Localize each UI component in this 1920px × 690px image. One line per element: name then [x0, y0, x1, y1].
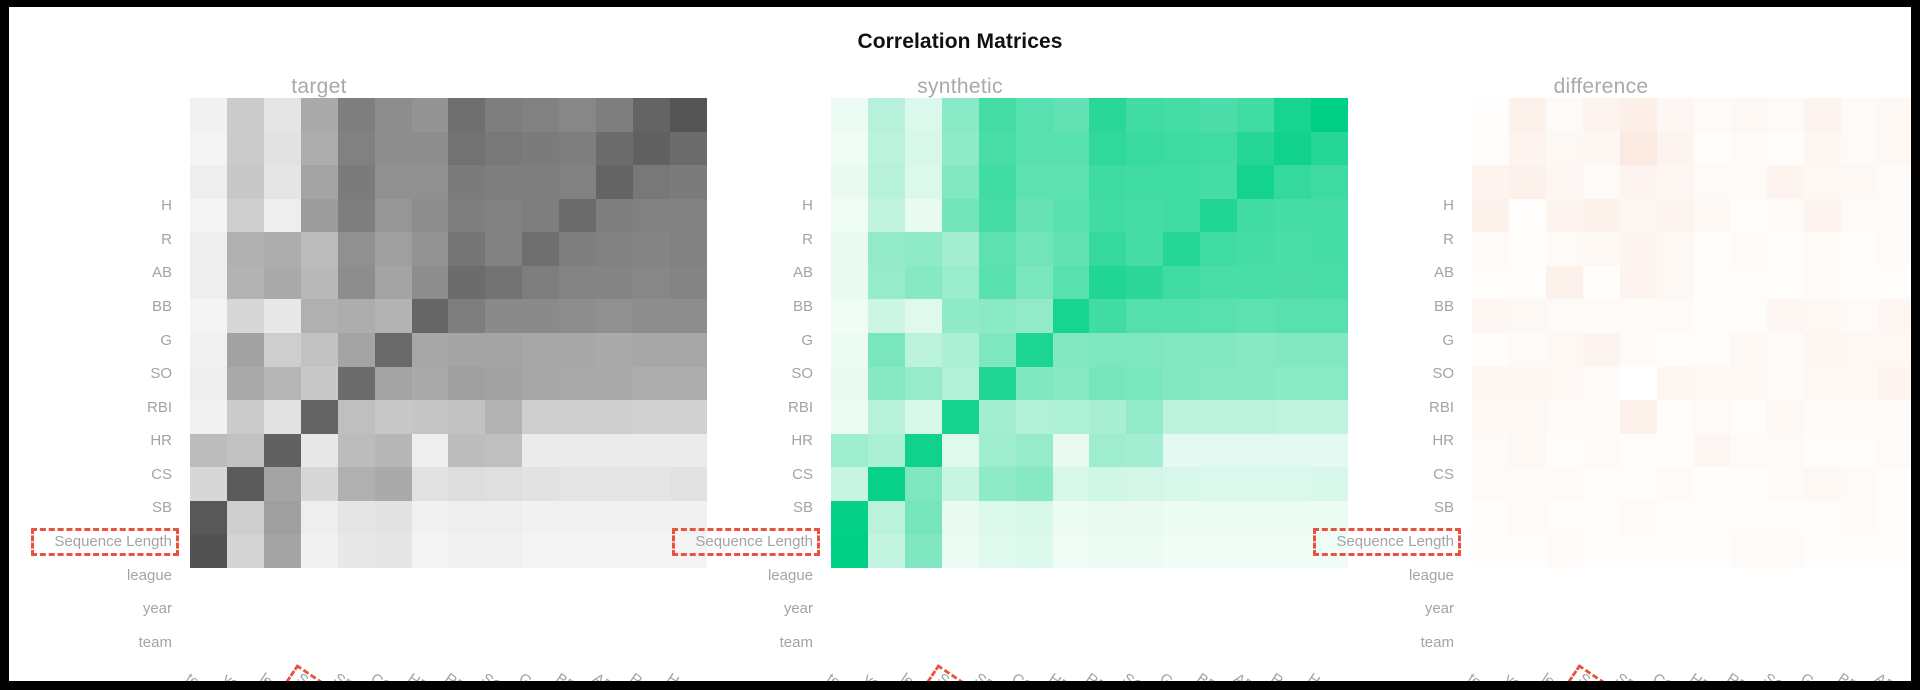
- heatmap-cell: [301, 98, 338, 132]
- tick-label-text: team: [780, 634, 813, 651]
- heatmap-cell: [1126, 333, 1163, 367]
- heatmap-cell: [831, 367, 868, 401]
- y-axis-tick-label: G: [1291, 323, 1463, 357]
- heatmap-cell: [1657, 98, 1694, 132]
- x-axis-labels-difference: teamyearleagueSequence LengthSBCSHRRBISO…: [1472, 664, 1911, 681]
- x-axis-tick-label: BB: [1193, 670, 1219, 681]
- x-axis-tick-label: BB: [1834, 670, 1860, 681]
- heatmap-cell: [559, 232, 596, 266]
- heatmap-cell: [301, 165, 338, 199]
- y-axis-tick-label: H: [650, 189, 822, 223]
- heatmap-cell: [522, 434, 559, 468]
- heatmap-cell: [485, 232, 522, 266]
- heatmap-cell: [1546, 333, 1583, 367]
- x-axis-tick-label: SB: [1613, 670, 1639, 681]
- heatmap-cell: [1730, 534, 1767, 568]
- heatmap-cell: [264, 165, 301, 199]
- heatmap-cell: [227, 132, 264, 166]
- heatmap-cell: [190, 367, 227, 401]
- heatmap-cell: [412, 501, 449, 535]
- heatmap-cell: [375, 333, 412, 367]
- y-axis-tick-label: H: [1291, 189, 1463, 223]
- heatmap-cell: [1200, 98, 1237, 132]
- heatmap-cell: [227, 333, 264, 367]
- heatmap-cell: [1841, 165, 1878, 199]
- heatmap-cell: [979, 165, 1016, 199]
- heatmap-cell: [1237, 467, 1274, 501]
- y-axis-tick-label: team: [650, 626, 822, 660]
- heatmap-cell: [1546, 199, 1583, 233]
- heatmap-cell: [1016, 367, 1053, 401]
- heatmap-cell: [338, 266, 375, 300]
- tick-label-text: CS: [792, 466, 813, 483]
- heatmap-cell: [1200, 501, 1237, 535]
- heatmap-cell: [1546, 165, 1583, 199]
- x-axis-tick-label: year: [861, 670, 895, 681]
- heatmap-cell: [1620, 132, 1657, 166]
- heatmap-cell: [868, 333, 905, 367]
- heatmap-cell: [1016, 333, 1053, 367]
- heatmap-cell: [1583, 266, 1620, 300]
- heatmap-cell: [1620, 333, 1657, 367]
- heatmap-cell: [1089, 232, 1126, 266]
- heatmap-cell: [485, 199, 522, 233]
- heatmap-cell: [1546, 534, 1583, 568]
- y-axis-tick-label: AB: [1291, 256, 1463, 290]
- y-axis-tick-label: H: [9, 189, 181, 223]
- heatmap-cell: [1620, 199, 1657, 233]
- y-axis-tick-label: SO: [650, 357, 822, 391]
- heatmap-cell: [1053, 501, 1090, 535]
- heatmap-cell: [942, 467, 979, 501]
- heatmap-cell: [190, 266, 227, 300]
- heatmap-cell: [1053, 98, 1090, 132]
- x-axis-tick-label: SO: [1119, 670, 1146, 681]
- heatmap-cell: [522, 132, 559, 166]
- heatmap-cell: [831, 98, 868, 132]
- heatmap-cell: [1657, 232, 1694, 266]
- highlight-box-y: [672, 528, 820, 556]
- heatmap-cell: [1200, 232, 1237, 266]
- heatmap-cell: [1767, 333, 1804, 367]
- y-axis-tick-label: HR: [1291, 424, 1463, 458]
- heatmap-cell: [375, 199, 412, 233]
- heatmap-cell: [868, 299, 905, 333]
- heatmap-cell: [1546, 400, 1583, 434]
- heatmap-cell: [1472, 400, 1509, 434]
- panel-synthetic: synthetic HRABBBGSORBIHRCSSBSequence Len…: [650, 7, 1270, 681]
- heatmap-cell: [1089, 467, 1126, 501]
- heatmap-cell: [301, 199, 338, 233]
- heatmap-cell: [1878, 534, 1911, 568]
- heatmap-cell: [485, 266, 522, 300]
- heatmap-cell: [868, 534, 905, 568]
- heatmap-cell: [1841, 299, 1878, 333]
- heatmap-cell: [1730, 333, 1767, 367]
- heatmap-cell: [412, 266, 449, 300]
- heatmap-cell: [1767, 534, 1804, 568]
- heatmap-target[interactable]: HRABBBGSORBIHRCSSBSequence Lengthleaguey…: [190, 98, 707, 568]
- heatmap-cell: [1200, 333, 1237, 367]
- heatmap-cell: [485, 165, 522, 199]
- heatmap-cell: [905, 400, 942, 434]
- heatmap-cell: [522, 367, 559, 401]
- heatmap-cell: [1237, 333, 1274, 367]
- heatmap-cell: [1509, 199, 1546, 233]
- heatmap-cell: [1841, 232, 1878, 266]
- heatmap-cell: [264, 367, 301, 401]
- heatmap-cell: [942, 132, 979, 166]
- heatmap-cell: [1804, 199, 1841, 233]
- tick-label-text: league: [127, 567, 172, 584]
- heatmap-cell: [301, 501, 338, 535]
- heatmap-cell: [1657, 534, 1694, 568]
- heatmap-cell: [227, 232, 264, 266]
- heatmap-cell: [596, 199, 633, 233]
- heatmap-cell: [1200, 199, 1237, 233]
- heatmap-cell: [338, 98, 375, 132]
- y-axis-tick-label: SO: [1291, 357, 1463, 391]
- heatmap-cell: [1878, 367, 1911, 401]
- x-axis-tick-label: SB: [972, 670, 998, 681]
- heatmap-cell: [1546, 299, 1583, 333]
- heatmap-cell: [1016, 98, 1053, 132]
- heatmap-cell: [1237, 98, 1274, 132]
- heatmap-cell: [1126, 266, 1163, 300]
- heatmap-cell: [1730, 98, 1767, 132]
- heatmap-cell: [942, 501, 979, 535]
- heatmap-cell: [1126, 400, 1163, 434]
- heatmap-cell: [1089, 98, 1126, 132]
- heatmap-grid-synthetic: [831, 98, 1348, 568]
- heatmap-cell: [264, 534, 301, 568]
- heatmap-cell: [596, 434, 633, 468]
- heatmap-cell: [831, 299, 868, 333]
- heatmap-cell: [1509, 534, 1546, 568]
- x-axis-tick-label: G: [515, 670, 534, 681]
- heatmap-cell: [1804, 266, 1841, 300]
- heatmap-cell: [227, 199, 264, 233]
- heatmap-cell: [448, 266, 485, 300]
- heatmap-cell: [979, 501, 1016, 535]
- heatmap-cell: [1509, 299, 1546, 333]
- heatmap-cell: [1509, 501, 1546, 535]
- highlight-box-y: [1313, 528, 1461, 556]
- heatmap-cell: [190, 534, 227, 568]
- heatmap-cell: [264, 333, 301, 367]
- heatmap-cell: [522, 98, 559, 132]
- heatmap-cell: [1767, 199, 1804, 233]
- heatmap-cell: [1089, 501, 1126, 535]
- heatmap-cell: [522, 534, 559, 568]
- heatmap-difference[interactable]: HRABBBGSORBIHRCSSBSequence Lengthleaguey…: [1472, 98, 1911, 568]
- heatmap-cell: [1620, 501, 1657, 535]
- heatmap-grid-target: [190, 98, 707, 568]
- heatmap-cell: [1053, 165, 1090, 199]
- x-axis-tick-label: SO: [1760, 670, 1787, 681]
- heatmap-cell: [485, 467, 522, 501]
- heatmap-cell: [448, 132, 485, 166]
- y-axis-tick-label: league: [650, 558, 822, 592]
- heatmap-cell: [301, 534, 338, 568]
- x-axis-tick-label: AB: [1230, 670, 1256, 681]
- heatmap-cell: [1730, 299, 1767, 333]
- y-axis-tick-label: year: [1291, 592, 1463, 626]
- heatmap-cell: [338, 132, 375, 166]
- heatmap-cell: [1583, 467, 1620, 501]
- heatmap-cell: [1053, 467, 1090, 501]
- heatmap-cell: [448, 400, 485, 434]
- heatmap-cell: [596, 165, 633, 199]
- heatmap-cell: [1163, 132, 1200, 166]
- y-axis-tick-label: G: [9, 323, 181, 357]
- heatmap-cell: [1126, 199, 1163, 233]
- heatmap-cell: [264, 501, 301, 535]
- heatmap-cell: [301, 232, 338, 266]
- heatmap-cell: [1841, 266, 1878, 300]
- heatmap-cell: [979, 266, 1016, 300]
- x-axis-tick-label: HR: [1046, 670, 1073, 681]
- heatmap-cell: [1841, 333, 1878, 367]
- heatmap-cell: [868, 467, 905, 501]
- heatmap-cell: [1804, 501, 1841, 535]
- heatmap-cell: [868, 132, 905, 166]
- heatmap-cell: [1767, 434, 1804, 468]
- heatmap-cell: [1126, 367, 1163, 401]
- y-axis-tick-label: AB: [9, 256, 181, 290]
- x-axis-tick-label: R: [1267, 670, 1285, 681]
- heatmap-cell: [375, 501, 412, 535]
- y-axis-tick-label: year: [9, 592, 181, 626]
- heatmap-cell: [1472, 299, 1509, 333]
- heatmap-cell: [1730, 132, 1767, 166]
- heatmap-cell: [1841, 501, 1878, 535]
- heatmap-cell: [485, 132, 522, 166]
- heatmap-cell: [1804, 467, 1841, 501]
- heatmap-cell: [1730, 467, 1767, 501]
- heatmap-cell: [190, 299, 227, 333]
- heatmap-cell: [1657, 132, 1694, 166]
- x-axis-tick-label: R: [1908, 670, 1911, 681]
- heatmap-cell: [1016, 501, 1053, 535]
- heatmap-cell: [375, 367, 412, 401]
- heatmap-cell: [1878, 232, 1911, 266]
- panel-title-target: target: [9, 75, 629, 99]
- heatmap-cell: [1126, 467, 1163, 501]
- heatmap-cell: [1053, 333, 1090, 367]
- y-axis-tick-label: AB: [650, 256, 822, 290]
- heatmap-cell: [448, 333, 485, 367]
- heatmap-cell: [831, 266, 868, 300]
- heatmap-cell: [1472, 333, 1509, 367]
- x-axis-tick-label: year: [220, 670, 254, 681]
- y-axis-tick-label: SB: [9, 491, 181, 525]
- heatmap-cell: [979, 534, 1016, 568]
- heatmap-cell: [264, 132, 301, 166]
- heatmap-cell: [1878, 266, 1911, 300]
- heatmap-cell: [1237, 534, 1274, 568]
- heatmap-cell: [1200, 467, 1237, 501]
- heatmap-cell: [1804, 132, 1841, 166]
- x-axis-tick-label: G: [1797, 670, 1816, 681]
- heatmap-cell: [264, 467, 301, 501]
- heatmap-cell: [522, 299, 559, 333]
- tick-label-text: BB: [793, 298, 813, 315]
- heatmap-cell: [1126, 132, 1163, 166]
- heatmap-cell: [301, 299, 338, 333]
- heatmap-cell: [1237, 501, 1274, 535]
- heatmap-cell: [1694, 299, 1731, 333]
- heatmap-cell: [190, 333, 227, 367]
- heatmap-cell: [979, 367, 1016, 401]
- tick-label-text: R: [1443, 231, 1454, 248]
- heatmap-cell: [905, 434, 942, 468]
- heatmap-cell: [1694, 232, 1731, 266]
- heatmap-cell: [905, 299, 942, 333]
- y-axis-tick-label: CS: [9, 458, 181, 492]
- heatmap-cell: [448, 232, 485, 266]
- heatmap-cell: [1841, 467, 1878, 501]
- x-axis-tick-label: team: [183, 670, 220, 681]
- heatmap-cell: [190, 400, 227, 434]
- heatmap-cell: [522, 232, 559, 266]
- heatmap-cell: [596, 232, 633, 266]
- heatmap-cell: [227, 501, 264, 535]
- x-axis-tick-label: AB: [589, 670, 615, 681]
- heatmap-cell: [1767, 266, 1804, 300]
- heatmap-cell: [412, 534, 449, 568]
- y-axis-tick-label: RBI: [9, 390, 181, 424]
- heatmap-cell: [1804, 367, 1841, 401]
- heatmap-cell: [1657, 199, 1694, 233]
- heatmap-cell: [868, 434, 905, 468]
- heatmap-cell: [831, 232, 868, 266]
- heatmap-cell: [868, 501, 905, 535]
- tick-label-text: AB: [793, 264, 813, 281]
- highlight-box-y: [31, 528, 179, 556]
- heatmap-cell: [868, 400, 905, 434]
- heatmap-cell: [1509, 266, 1546, 300]
- tick-label-text: SO: [150, 365, 172, 382]
- heatmap-cell: [1163, 165, 1200, 199]
- heatmap-cell: [1546, 434, 1583, 468]
- heatmap-cell: [1509, 165, 1546, 199]
- heatmap-cell: [559, 132, 596, 166]
- x-axis-tick-label: G: [1156, 670, 1175, 681]
- heatmap-cell: [1472, 534, 1509, 568]
- heatmap-cell: [596, 501, 633, 535]
- heatmap-cell: [412, 400, 449, 434]
- tick-label-text: SB: [152, 499, 172, 516]
- heatmap-cell: [1730, 199, 1767, 233]
- y-axis-tick-label: team: [9, 626, 181, 660]
- heatmap-cell: [559, 266, 596, 300]
- heatmap-cell: [1163, 333, 1200, 367]
- heatmap-cell: [448, 199, 485, 233]
- heatmap-cell: [1546, 232, 1583, 266]
- heatmap-cell: [1583, 165, 1620, 199]
- heatmap-synthetic[interactable]: HRABBBGSORBIHRCSSBSequence Lengthleaguey…: [831, 98, 1348, 568]
- heatmap-cell: [1694, 98, 1731, 132]
- y-axis-tick-label: CS: [650, 458, 822, 492]
- y-axis-tick-label: CS: [1291, 458, 1463, 492]
- tick-label-text: AB: [1434, 264, 1454, 281]
- heatmap-cell: [1878, 98, 1911, 132]
- heatmap-cell: [1053, 434, 1090, 468]
- heatmap-cell: [412, 367, 449, 401]
- heatmap-cell: [1126, 434, 1163, 468]
- heatmap-cell: [1583, 400, 1620, 434]
- heatmap-cell: [1657, 367, 1694, 401]
- heatmap-cell: [1200, 132, 1237, 166]
- heatmap-cell: [375, 299, 412, 333]
- heatmap-cell: [1583, 232, 1620, 266]
- heatmap-cell: [1694, 132, 1731, 166]
- heatmap-cell: [1878, 299, 1911, 333]
- heatmap-cell: [227, 266, 264, 300]
- heatmap-cell: [596, 400, 633, 434]
- heatmap-cell: [1620, 232, 1657, 266]
- heatmap-cell: [338, 333, 375, 367]
- heatmap-cell: [1053, 299, 1090, 333]
- heatmap-cell: [1016, 165, 1053, 199]
- heatmap-cell: [1016, 199, 1053, 233]
- heatmap-cell: [1053, 132, 1090, 166]
- heatmap-cell: [1089, 534, 1126, 568]
- panel-difference: difference HRABBBGSORBIHRCSSBSequence Le…: [1291, 7, 1911, 681]
- heatmap-cell: [1657, 467, 1694, 501]
- x-axis-tick-label: HR: [1687, 670, 1714, 681]
- tick-label-text: AB: [152, 264, 172, 281]
- heatmap-cell: [831, 333, 868, 367]
- heatmap-cell: [412, 232, 449, 266]
- y-axis-tick-label: SO: [9, 357, 181, 391]
- heatmap-cell: [190, 467, 227, 501]
- heatmap-cell: [1583, 199, 1620, 233]
- tick-label-text: G: [1442, 332, 1454, 349]
- heatmap-cell: [1804, 534, 1841, 568]
- heatmap-cell: [979, 299, 1016, 333]
- tick-label-text: league: [1409, 567, 1454, 584]
- x-axis-tick-label: AB: [1871, 670, 1897, 681]
- heatmap-cell: [831, 165, 868, 199]
- tick-label-text: SB: [793, 499, 813, 516]
- heatmap-cell: [1878, 333, 1911, 367]
- heatmap-cell: [1472, 467, 1509, 501]
- heatmap-cell: [1126, 232, 1163, 266]
- heatmap-cell: [375, 400, 412, 434]
- heatmap-cell: [301, 434, 338, 468]
- heatmap-cell: [559, 501, 596, 535]
- heatmap-cell: [1016, 467, 1053, 501]
- figure-canvas: Correlation Matrices target HRABBBGSORBI…: [9, 7, 1911, 681]
- heatmap-cell: [1620, 266, 1657, 300]
- heatmap-cell: [905, 132, 942, 166]
- heatmap-cell: [375, 165, 412, 199]
- y-axis-tick-label: R: [9, 223, 181, 257]
- x-axis-tick-label: CS: [1650, 670, 1677, 681]
- heatmap-cell: [1620, 367, 1657, 401]
- heatmap-cell: [979, 98, 1016, 132]
- tick-label-text: SO: [791, 365, 813, 382]
- heatmap-cell: [1841, 199, 1878, 233]
- heatmap-cell: [868, 165, 905, 199]
- heatmap-cell: [1509, 232, 1546, 266]
- heatmap-cell: [448, 467, 485, 501]
- heatmap-cell: [1841, 400, 1878, 434]
- heatmap-cell: [1472, 232, 1509, 266]
- heatmap-cell: [979, 232, 1016, 266]
